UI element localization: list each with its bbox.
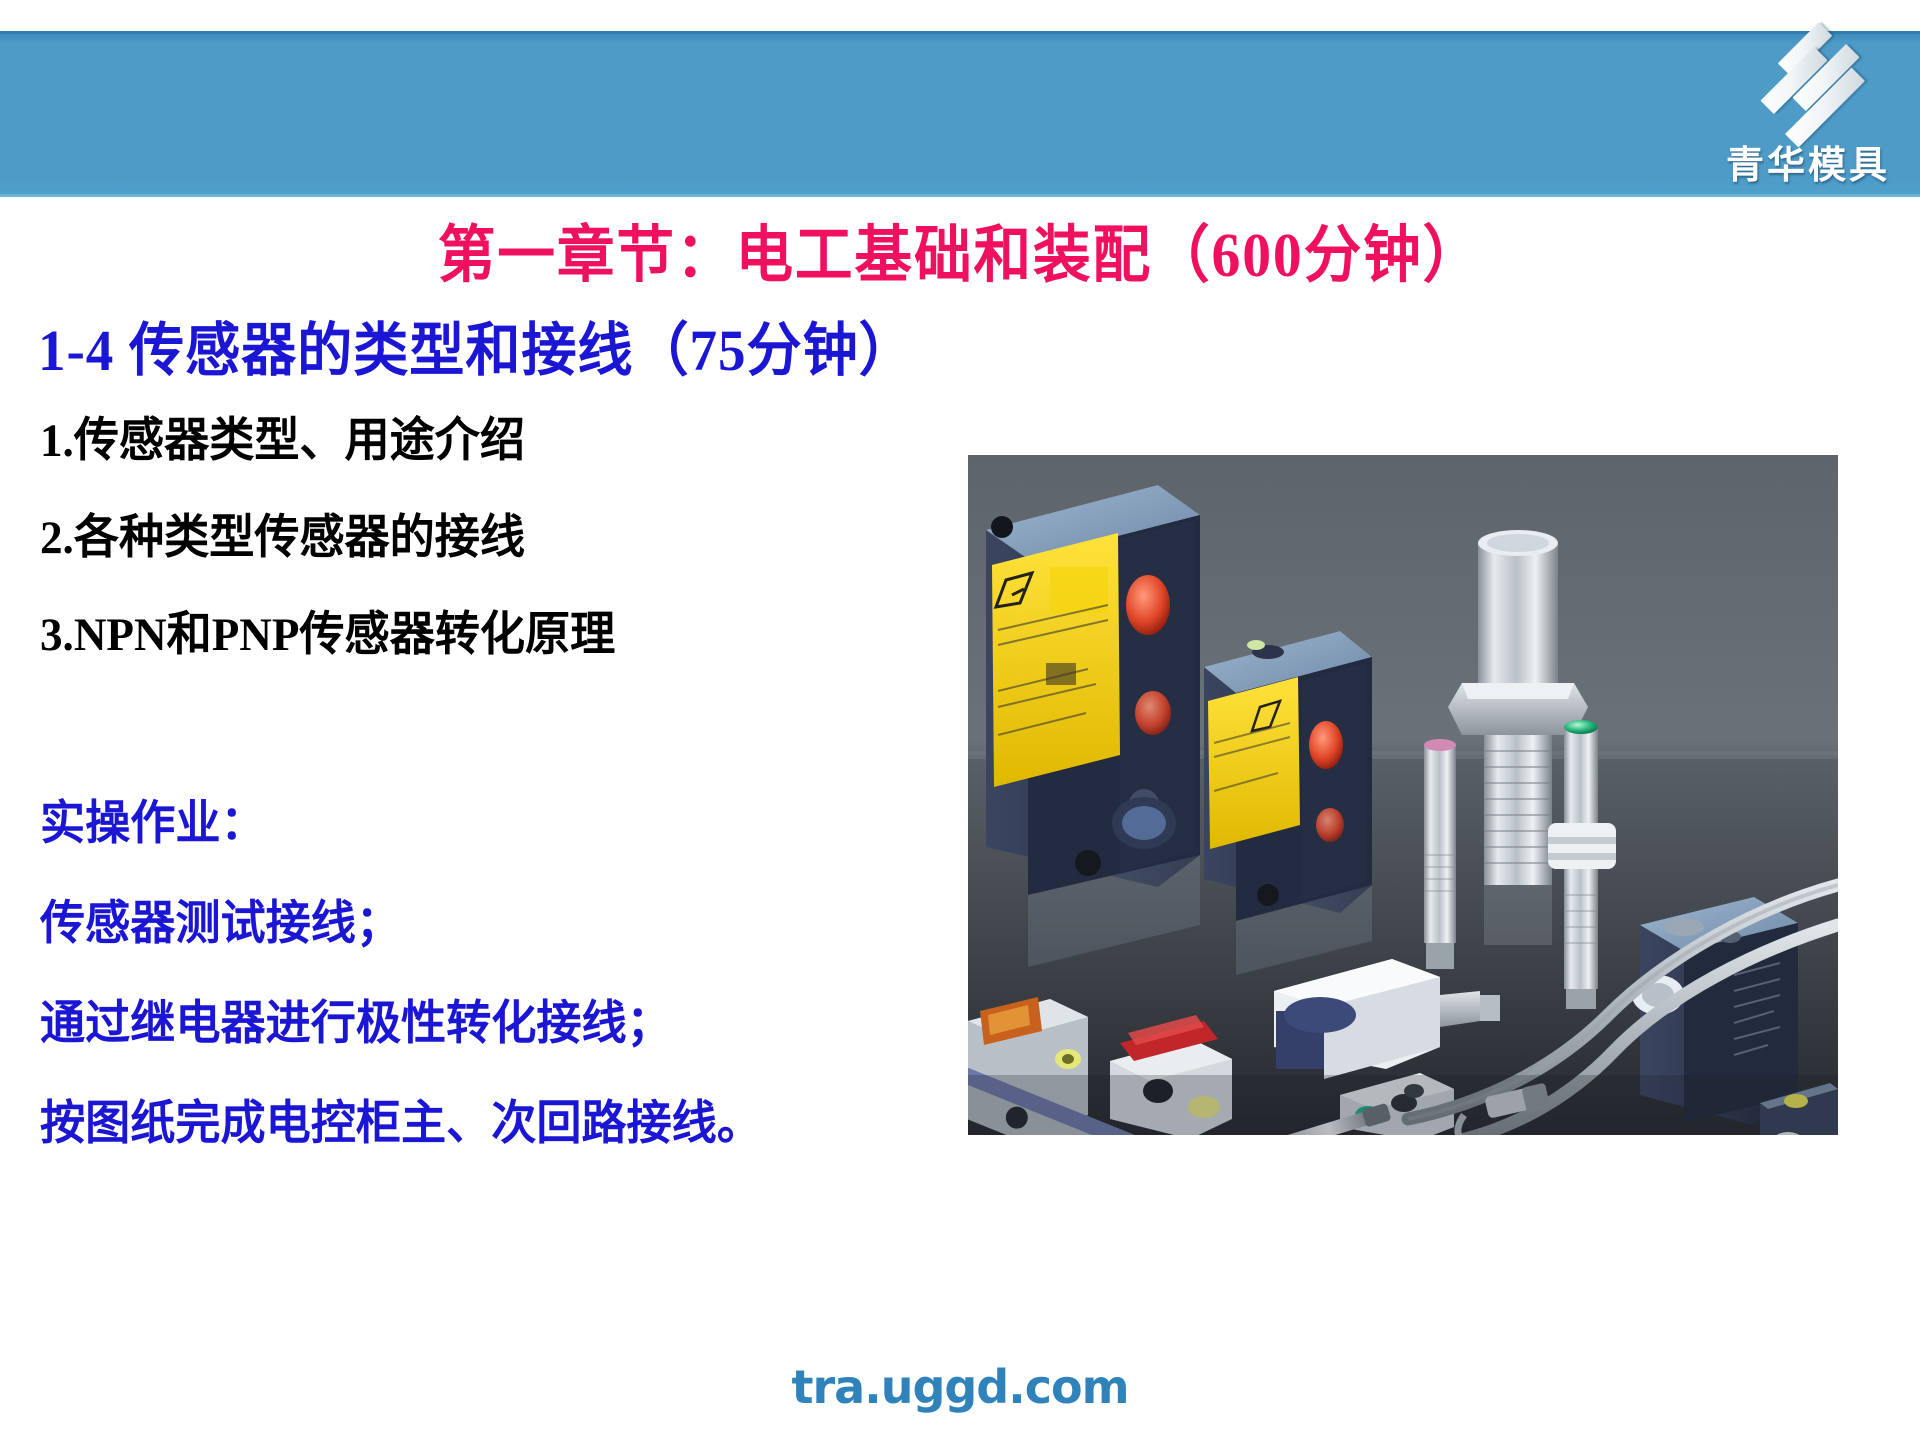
homework-heading: 实操作业： [40, 800, 904, 848]
company-logo: 青华模具 [1718, 24, 1898, 192]
logo-company-name: 青华模具 [1718, 134, 1898, 189]
header-band [0, 31, 1920, 197]
list-item: 通过继电器进行极性转化接线； [40, 1000, 904, 1048]
presentation-slide: 青华模具 第一章节：电工基础和装配（600分钟） 1-4 传感器的类型和接线（7… [0, 0, 1920, 1440]
list-item: 按图纸完成电控柜主、次回路接线。 [40, 1100, 904, 1148]
list-item: 1.传感器类型、用途介绍 [40, 418, 866, 464]
topic-list: 1.传感器类型、用途介绍 2.各种类型传感器的接线 3.NPN和PNP传感器转化… [40, 418, 900, 709]
logo-mark-icon [1730, 26, 1880, 138]
chapter-title: 第一章节：电工基础和装配（600分钟） [67, 204, 1853, 294]
homework-block: 实操作业： 传感器测试接线； 通过继电器进行极性转化接线； 按图纸完成电控柜主、… [40, 800, 940, 1200]
list-item: 2.各种类型传感器的接线 [40, 515, 866, 561]
section-title: 1-4 传感器的类型和接线（75分钟） [38, 303, 915, 387]
sensor-product-photo [968, 455, 1838, 1135]
list-item: 3.NPN和PNP传感器转化原理 [40, 612, 866, 658]
footer-watermark: tra.uggd.com [0, 1360, 1920, 1414]
list-item: 传感器测试接线； [40, 900, 904, 948]
